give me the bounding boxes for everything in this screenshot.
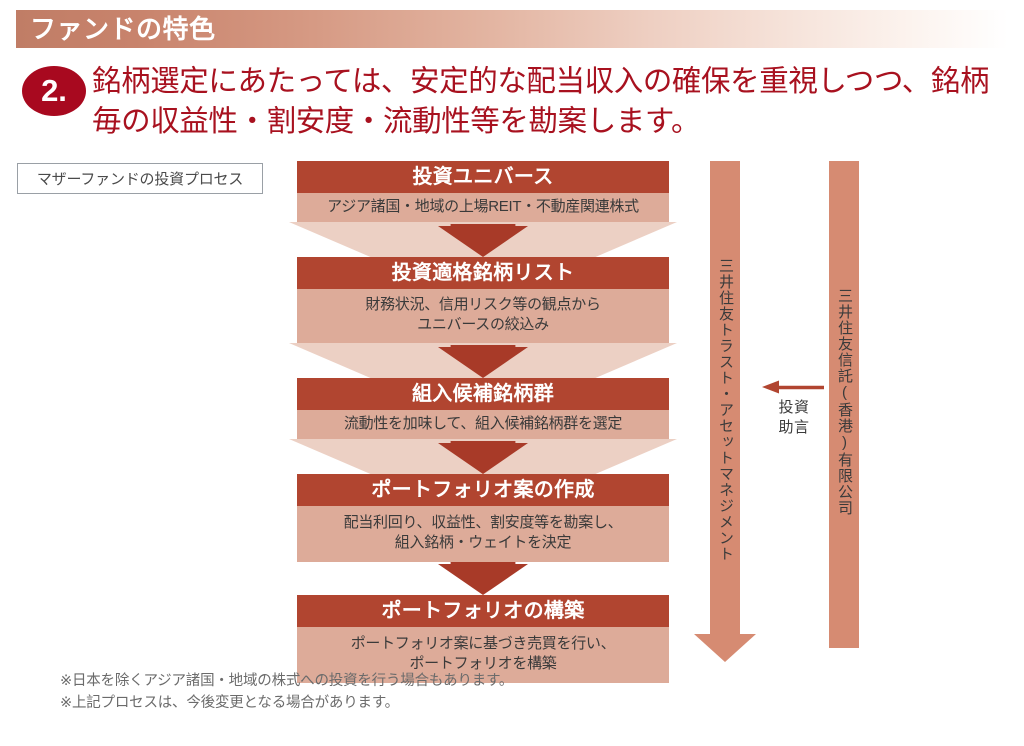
flow-step-1-title: 投資ユニバース <box>297 161 669 193</box>
page-title: ファンドの特色 <box>30 13 216 45</box>
flow-step-1: 投資ユニバース アジア諸国・地域の上場REIT・不動産関連株式 <box>297 161 669 222</box>
lead-line-2: 毎の収益性・割安度・流動性等を勘案します。 <box>92 102 1018 142</box>
flow-step-3-desc: 流動性を加味して、組入候補銘柄群を選定 <box>297 410 669 439</box>
flow-step-5-desc-line-1: ポートフォリオ案に基づき売買を行い、 <box>299 634 667 654</box>
flow-connector-2 <box>297 343 669 378</box>
flow-connector-4 <box>297 562 669 595</box>
flow-step-4-desc: 配当利回り、収益性、割安度等を勘案し、 組入銘柄・ウェイトを決定 <box>297 506 669 562</box>
flow-step-2-desc: 財務状況、信用リスク等の観点から ユニバースの絞込み <box>297 289 669 343</box>
footnotes: ※日本を除くアジア諸国・地域の株式への投資を行う場合もあります。 ※上記プロセス… <box>60 670 513 714</box>
flow-step-3-title: 組入候補銘柄群 <box>297 378 669 410</box>
footnote-2: ※上記プロセスは、今後変更となる場合があります。 <box>60 692 513 714</box>
flow-step-3-desc-line-1: 流動性を加味して、組入候補銘柄群を選定 <box>299 414 667 434</box>
flow-step-2-title: 投資適格銘柄リスト <box>297 257 669 289</box>
flow-connector-1 <box>297 222 669 257</box>
flow-step-2-desc-line-2: ユニバースの絞込み <box>299 315 667 335</box>
flow-step-4: ポートフォリオ案の作成 配当利回り、収益性、割安度等を勘案し、 組入銘柄・ウェイ… <box>297 474 669 562</box>
flow-connector-3 <box>297 439 669 474</box>
investment-advice-label-line-2: 助言 <box>766 418 822 438</box>
down-arrow-icon <box>438 562 528 595</box>
section-number-badge: 2. <box>22 66 86 116</box>
investment-process-flow: 投資ユニバース アジア諸国・地域の上場REIT・不動産関連株式 投資適格銘柄リス… <box>297 161 669 683</box>
investment-advice-label: 投資 助言 <box>766 398 822 438</box>
footnote-1: ※日本を除くアジア諸国・地域の株式への投資を行う場合もあります。 <box>60 670 513 692</box>
flow-step-1-desc: アジア諸国・地域の上場REIT・不動産関連株式 <box>297 193 669 222</box>
flow-step-2-desc-line-1: 財務状況、信用リスク等の観点から <box>299 295 667 315</box>
flow-step-4-desc-line-2: 組入銘柄・ウェイトを決定 <box>299 533 667 553</box>
left-arrow-icon <box>762 380 824 394</box>
flow-step-3: 組入候補銘柄群 流動性を加味して、組入候補銘柄群を選定 <box>297 378 669 439</box>
entity-bar-arrowhead-icon <box>694 634 756 662</box>
flow-step-4-title: ポートフォリオ案の作成 <box>297 474 669 506</box>
lead-line-1: 銘柄選定にあたっては、安定的な配当収入の確保を重視しつつ、銘柄 <box>92 62 1018 102</box>
lead-paragraph: 銘柄選定にあたっては、安定的な配当収入の確保を重視しつつ、銘柄 毎の収益性・割安… <box>92 62 1018 142</box>
investment-advice-label-line-1: 投資 <box>766 398 822 418</box>
flow-step-1-desc-line-1: アジア諸国・地域の上場REIT・不動産関連株式 <box>299 197 667 217</box>
entity-bar-asset-management-label: 三井住友トラスト・アセットマネジメント <box>710 258 740 562</box>
flow-step-4-desc-line-1: 配当利回り、収益性、割安度等を勘案し、 <box>299 513 667 533</box>
entity-bar-hongkong-trust-label: 三井住友信託(香港)有限公司 <box>829 288 859 516</box>
flow-step-5-title: ポートフォリオの構築 <box>297 595 669 627</box>
process-label-box: マザーファンドの投資プロセス <box>17 163 263 194</box>
flow-step-2: 投資適格銘柄リスト 財務状況、信用リスク等の観点から ユニバースの絞込み <box>297 257 669 343</box>
